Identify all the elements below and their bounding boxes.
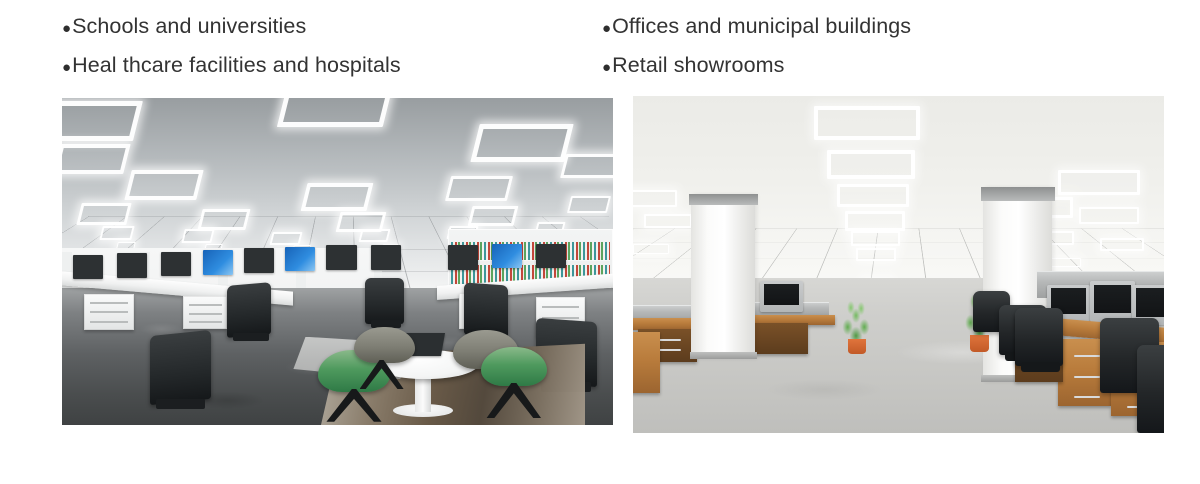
bullet-label: Offices and municipal buildings xyxy=(612,14,911,39)
monitor xyxy=(117,253,147,278)
bullet-column-left: ● Schools and universities ● Heal thcare… xyxy=(62,14,602,92)
monitor xyxy=(492,244,522,269)
chair-base xyxy=(1021,362,1061,372)
bullet-label: Schools and universities xyxy=(72,14,306,39)
tub-chair xyxy=(481,347,547,386)
monitor xyxy=(448,245,478,270)
monitor xyxy=(203,250,233,275)
list-item: ● Offices and municipal buildings xyxy=(602,14,1142,53)
office-chair xyxy=(1137,345,1164,433)
chair-base xyxy=(156,399,206,409)
desk-cabinet xyxy=(750,323,808,353)
table-stem xyxy=(415,376,432,412)
task-chair xyxy=(227,282,271,338)
drawer-pull xyxy=(1074,396,1101,398)
bullet-dot-icon: ● xyxy=(62,21,71,36)
feature-bullet-columns: ● Schools and universities ● Heal thcare… xyxy=(62,14,1142,92)
bullet-label: Heal thcare facilities and hospitals xyxy=(72,53,401,78)
desk-pedestal xyxy=(84,294,134,330)
desk-pedestal xyxy=(183,296,227,329)
bullet-dot-icon: ● xyxy=(602,21,611,36)
bullet-label: Retail showrooms xyxy=(612,53,784,78)
tub-chair xyxy=(354,327,415,363)
potted-plant-foliage xyxy=(840,298,872,342)
column-capital xyxy=(689,194,758,206)
monitor xyxy=(371,245,401,270)
monitor xyxy=(161,252,191,277)
office-interior-photo-right xyxy=(633,96,1164,433)
plant-pot xyxy=(970,335,989,352)
office-interior-photo-left xyxy=(62,98,613,425)
structural-column xyxy=(691,194,755,359)
task-chair xyxy=(150,330,211,405)
wood-desk-return xyxy=(633,332,660,393)
crt-monitor xyxy=(760,281,802,311)
monitor xyxy=(536,244,566,269)
monitor xyxy=(73,255,103,280)
monitor xyxy=(285,247,315,272)
plant-pot xyxy=(848,339,866,354)
monitor xyxy=(244,248,274,273)
bullet-dot-icon: ● xyxy=(62,60,71,75)
column-base xyxy=(690,352,758,359)
drawer-pull xyxy=(1074,376,1101,378)
list-item: ● Retail showrooms xyxy=(602,53,1142,92)
crt-monitor xyxy=(1090,281,1135,321)
column-capital xyxy=(981,187,1056,201)
list-item: ● Schools and universities xyxy=(62,14,602,53)
slide-canvas: ● Schools and universities ● Heal thcare… xyxy=(0,0,1200,484)
monitor xyxy=(326,245,356,270)
list-item: ● Heal thcare facilities and hospitals xyxy=(62,53,602,92)
bullet-dot-icon: ● xyxy=(602,60,611,75)
task-chair xyxy=(365,278,404,324)
bullet-column-right: ● Offices and municipal buildings ● Reta… xyxy=(602,14,1142,92)
office-chair xyxy=(1015,308,1063,365)
chair-base xyxy=(233,333,269,341)
